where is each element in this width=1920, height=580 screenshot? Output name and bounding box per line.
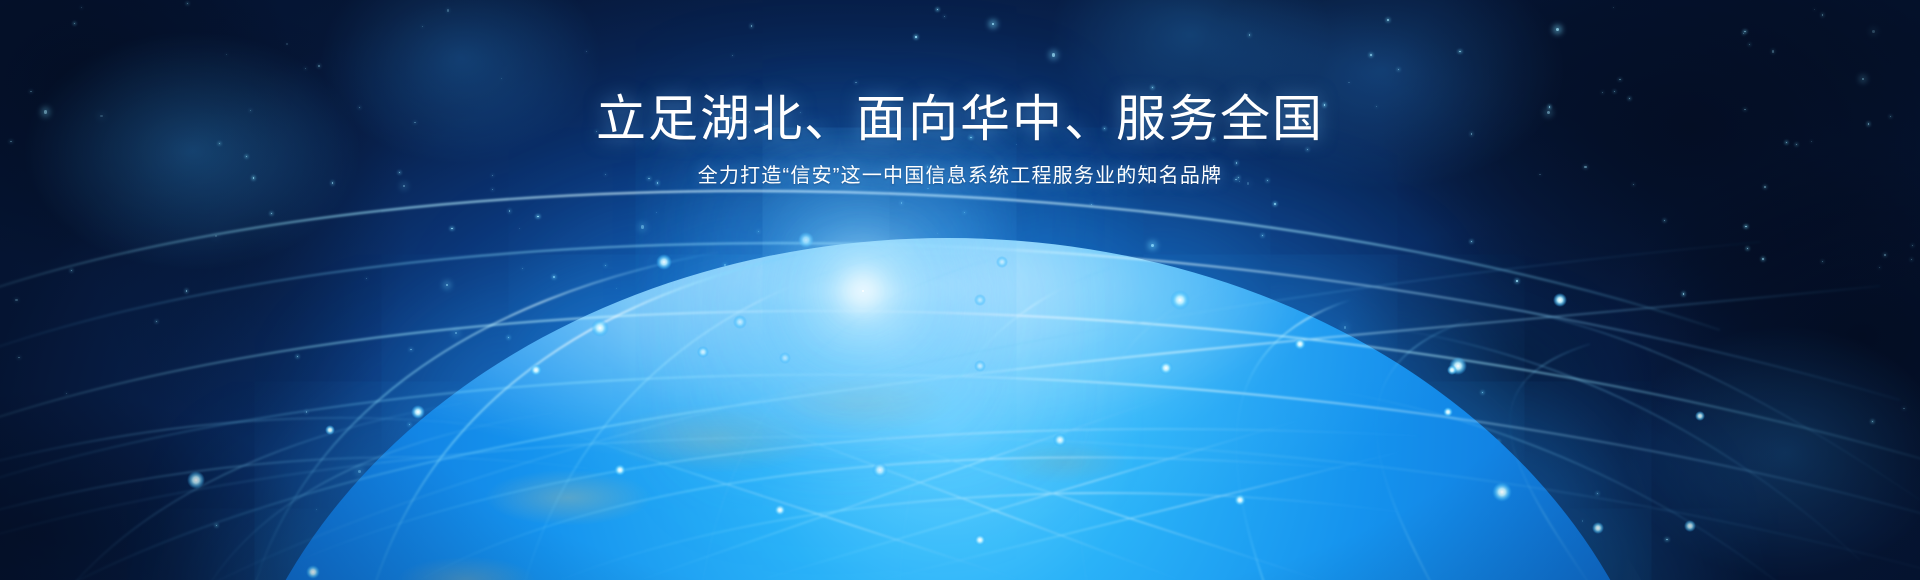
banner-copy: 立足湖北、面向华中、服务全国 全力打造“信安”这一中国信息系统工程服务业的知名品… [0,92,1920,188]
banner-headline: 立足湖北、面向华中、服务全国 [0,92,1920,146]
center-light-flare [700,262,1030,322]
banner-subheadline: 全力打造“信安”这一中国信息系统工程服务业的知名品牌 [0,164,1920,188]
hero-banner: 立足湖北、面向华中、服务全国 全力打造“信安”这一中国信息系统工程服务业的知名品… [0,0,1920,580]
center-light-burst [862,290,864,292]
